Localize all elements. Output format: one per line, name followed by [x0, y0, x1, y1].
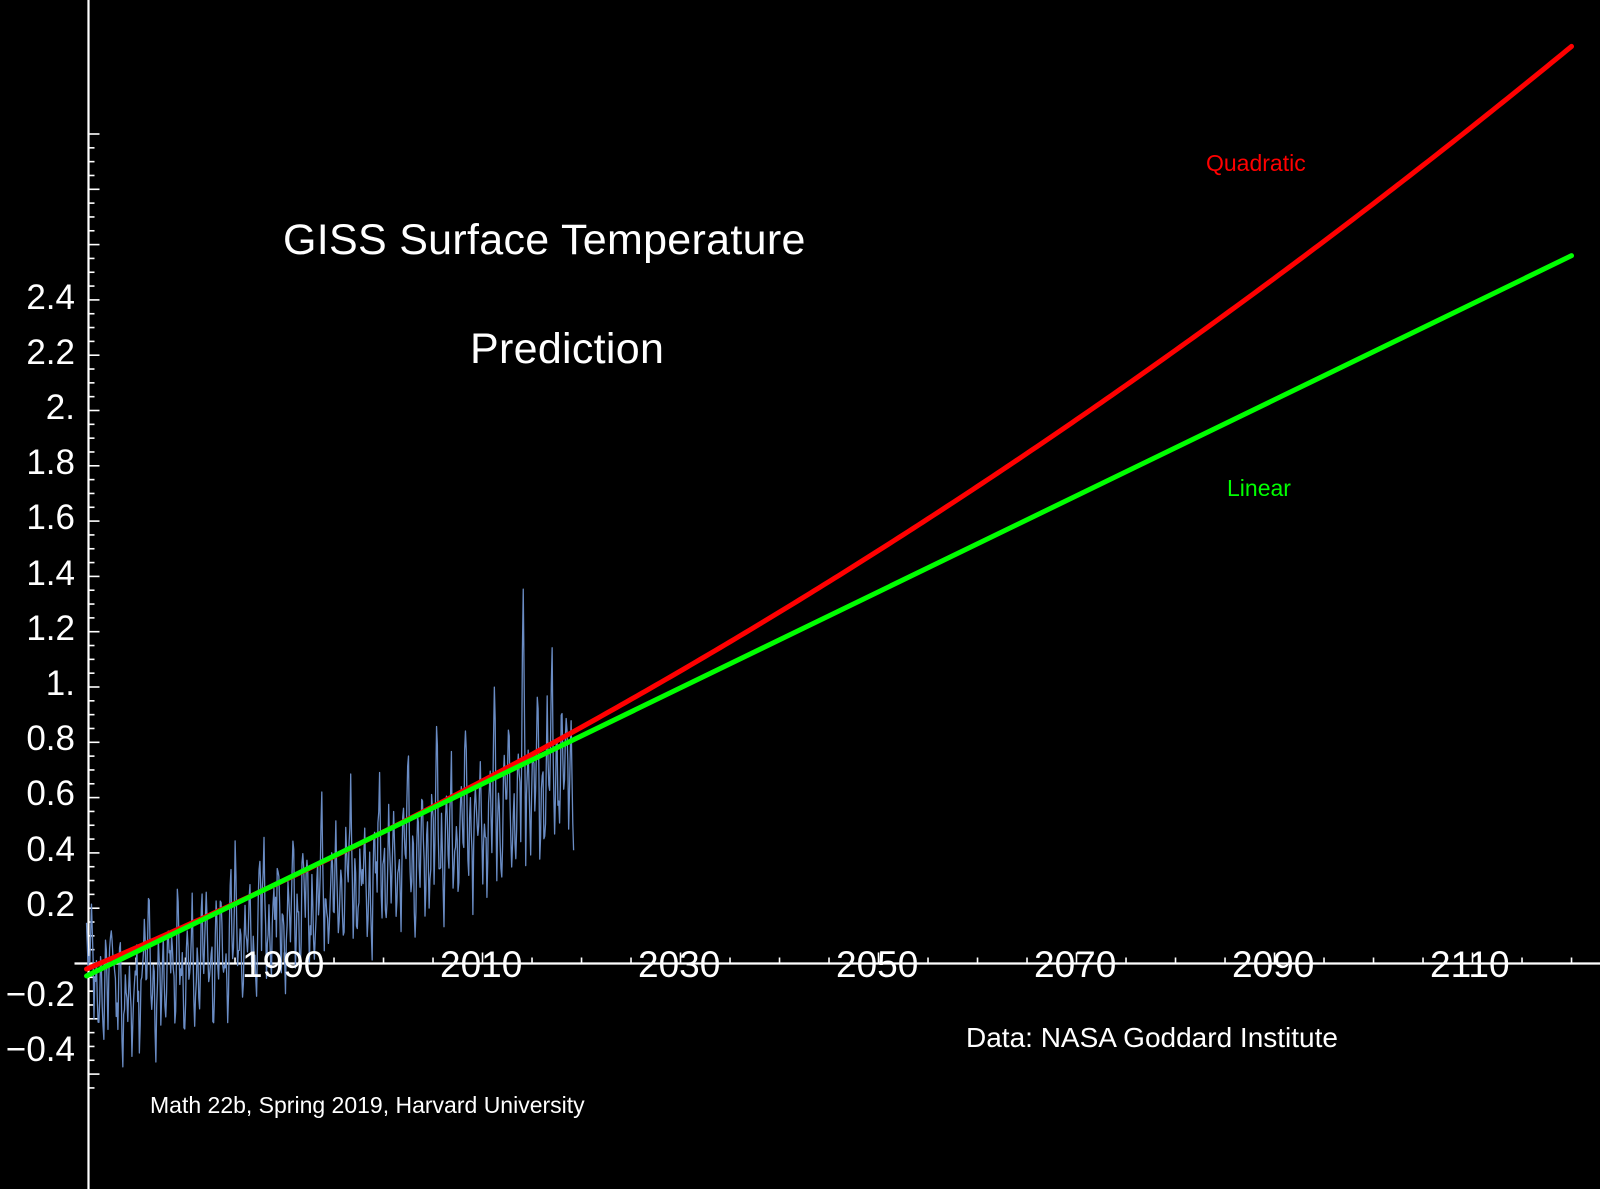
- axes-layer: [75, 0, 1600, 1189]
- x-axis-tick-label: 2090: [1232, 944, 1314, 986]
- series-label-quadratic: Quadratic: [1206, 150, 1306, 177]
- y-axis-tick-label: 0.8: [0, 719, 75, 759]
- y-axis-tick-label: 2.2: [0, 333, 75, 373]
- course-credit-note: Math 22b, Spring 2019, Harvard Universit…: [150, 1092, 585, 1119]
- x-axis-tick-label: 2070: [1034, 944, 1116, 986]
- y-axis-tick-label: 1.2: [0, 609, 75, 649]
- y-axis-tick-label: −0.4: [0, 1030, 75, 1070]
- y-axis-tick-label: −0.2: [0, 975, 75, 1015]
- x-axis-tick-label: 1990: [242, 944, 324, 986]
- y-axis-tick-label: 1.4: [0, 554, 75, 594]
- chart-title-line2: Prediction: [470, 325, 664, 374]
- y-axis-tick-label: 0.6: [0, 774, 75, 814]
- y-axis-tick-label: 1.8: [0, 443, 75, 483]
- plot-svg: [0, 0, 1600, 1189]
- x-axis-tick-label: 2010: [440, 944, 522, 986]
- y-axis-tick-label: 0.4: [0, 830, 75, 870]
- y-axis-tick-label: 1.: [0, 664, 75, 704]
- y-axis-tick-label: 2.: [0, 388, 75, 428]
- y-axis-tick-label: 0.2: [0, 885, 75, 925]
- chart-title-line1: GISS Surface Temperature: [283, 216, 806, 265]
- x-axis-tick-label: 2050: [836, 944, 918, 986]
- series-giss-monthly-anomaly: [87, 589, 574, 1067]
- data-source-note: Data: NASA Goddard Institute: [966, 1022, 1338, 1054]
- y-axis-tick-label: 1.6: [0, 498, 75, 538]
- data-series-layer: [87, 46, 1572, 1066]
- series-label-linear: Linear: [1227, 475, 1291, 502]
- series-linear-fit: [87, 256, 1572, 976]
- y-axis-tick-label: 2.4: [0, 278, 75, 318]
- chart-canvas: GISS Surface Temperature Prediction Quad…: [0, 0, 1600, 1189]
- x-axis-tick-label: 2110: [1430, 944, 1510, 986]
- x-axis-tick-label: 2030: [638, 944, 720, 986]
- series-quadratic-fit: [87, 46, 1572, 969]
